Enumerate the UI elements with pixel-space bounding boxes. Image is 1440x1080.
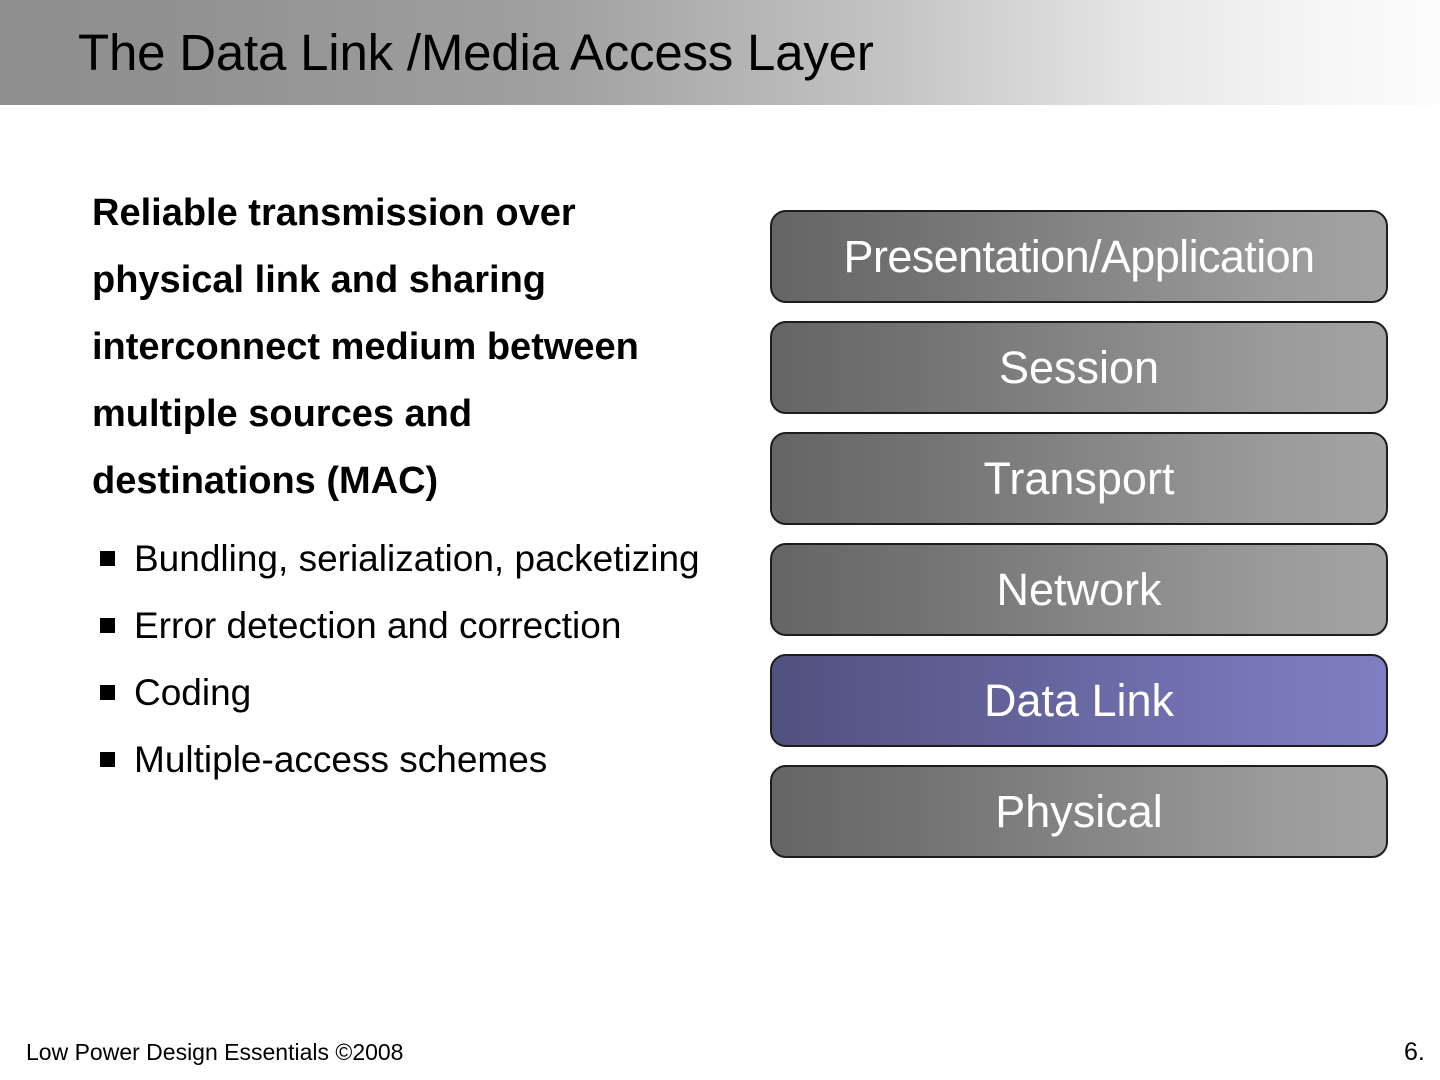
layer-label: Transport [984, 454, 1175, 504]
footer-credit: Low Power Design Essentials ©2008 [26, 1037, 403, 1067]
layer-label: Data Link [984, 676, 1174, 726]
slide-title-bar: The Data Link /Media Access Layer [0, 0, 1440, 105]
list-item-label: Multiple-access schemes [134, 739, 547, 780]
list-item: Bundling, serialization, packetizing [92, 525, 752, 592]
layer-box-physical: Physical [770, 765, 1388, 858]
layer-box-session: Session [770, 321, 1388, 414]
bullet-list: Bundling, serialization, packetizing Err… [92, 525, 752, 793]
layer-box-presentation-application: Presentation/Application [770, 210, 1388, 303]
list-item: Coding [92, 659, 752, 726]
layer-box-transport: Transport [770, 432, 1388, 525]
layer-label: Presentation/Application [844, 232, 1315, 282]
osi-layer-stack: Presentation/Application Session Transpo… [770, 210, 1388, 876]
layer-box-network: Network [770, 543, 1388, 636]
square-bullet-icon [100, 551, 115, 566]
list-item: Multiple-access schemes [92, 726, 752, 793]
layer-box-data-link: Data Link [770, 654, 1388, 747]
page-title: The Data Link /Media Access Layer [78, 18, 874, 88]
layer-label: Session [999, 343, 1159, 393]
lead-paragraph: Reliable transmission over physical link… [92, 180, 692, 515]
square-bullet-icon [100, 752, 115, 767]
footer-page-number: 6. [1404, 1037, 1425, 1067]
list-item-label: Coding [134, 672, 251, 713]
list-item-label: Bundling, serialization, packetizing [134, 538, 700, 579]
layer-label: Physical [995, 787, 1163, 837]
square-bullet-icon [100, 685, 115, 700]
square-bullet-icon [100, 618, 115, 633]
list-item-label: Error detection and correction [134, 605, 621, 646]
list-item: Error detection and correction [92, 592, 752, 659]
layer-label: Network [996, 565, 1161, 615]
content-column: Reliable transmission over physical link… [92, 180, 752, 793]
